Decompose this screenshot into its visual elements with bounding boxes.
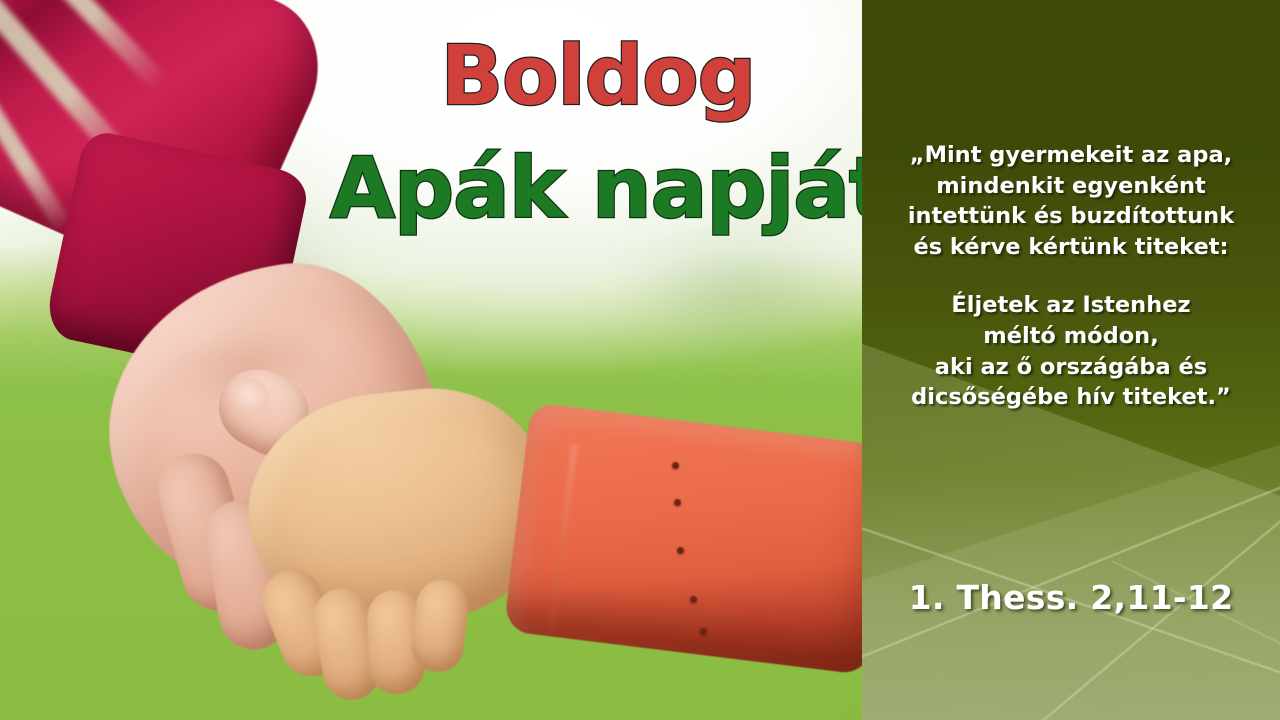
scripture-panel: „Mint gyermekeit az apa, mindenkit egyen…: [862, 0, 1280, 720]
background-blur-blob-right: [569, 216, 862, 374]
quote-p2-line-2: méltó módon,: [872, 321, 1270, 352]
slide: Boldog Apák napját! „Mint gyermekeit az …: [0, 0, 1280, 720]
headline-line-boldog: Boldog: [330, 36, 860, 118]
fathers-day-photo: Boldog Apák napját!: [0, 0, 862, 720]
quote-p2-line-1: Éljetek az Istenhez: [872, 290, 1270, 321]
scripture-quote: „Mint gyermekeit az apa, mindenkit egyen…: [862, 140, 1280, 413]
child-sleeve-button: [700, 628, 707, 635]
quote-p1-line-2: mindenkit egyenként: [872, 171, 1270, 202]
quote-p1-line-3: intettünk és buzdítottunk: [872, 201, 1270, 232]
quote-p1-line-4: és kérve kértünk titeket:: [872, 232, 1270, 263]
greeting-headline: Boldog Apák napját!: [330, 36, 860, 230]
child-sleeve-button: [672, 462, 679, 469]
quote-p2-line-4: dicsőségébe hív titeket.”: [872, 382, 1270, 413]
child-sleeve: [503, 402, 862, 675]
scripture-citation: 1. Thess. 2,11-12: [862, 578, 1280, 617]
child-sleeve-button: [677, 547, 684, 554]
quote-p1-line-1: „Mint gyermekeit az apa,: [872, 140, 1270, 171]
quote-p2-line-3: aki az ő országába és: [872, 352, 1270, 383]
panel-content: „Mint gyermekeit az apa, mindenkit egyen…: [862, 0, 1280, 720]
child-sleeve-button: [690, 596, 697, 603]
headline-line-apak-napjat: Apák napját!: [330, 146, 860, 230]
child-sleeve-button: [674, 499, 681, 506]
quote-paragraph-gap: [872, 262, 1270, 290]
